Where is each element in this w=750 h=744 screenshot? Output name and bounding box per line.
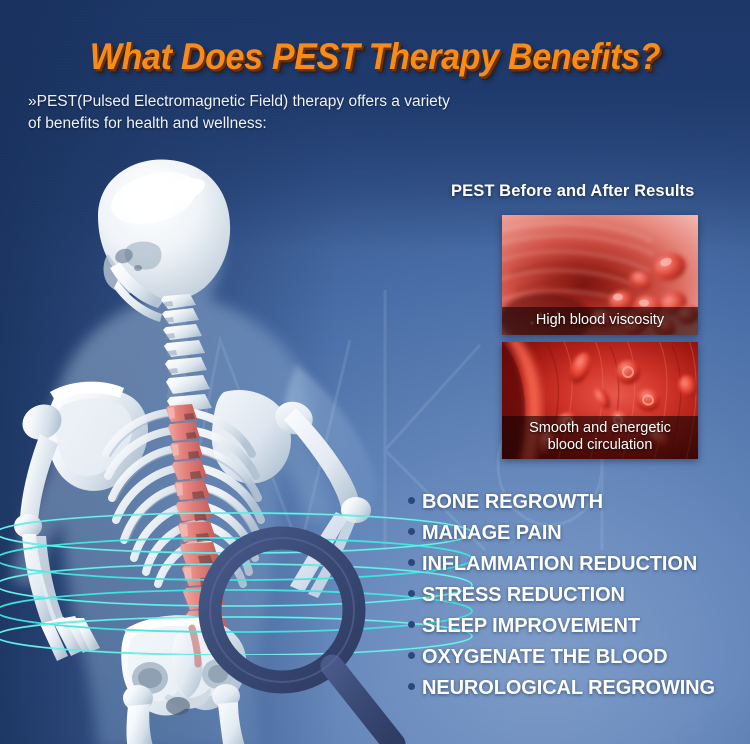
- benefit-label: BONE REGROWTH: [422, 492, 603, 512]
- bullet-icon: [408, 621, 415, 628]
- skeleton-illustration: [0, 150, 408, 744]
- benefit-item-oxygenate-the-blood: OXYGENATE THE BLOOD: [408, 647, 750, 667]
- subtitle-line-1: »PEST(Pulsed Electromagnetic Field) ther…: [28, 91, 750, 113]
- subtitle-line-2: of benefits for health and wellness:: [28, 113, 750, 135]
- header: What Does PEST Therapy Benefits? »PEST(P…: [0, 0, 750, 135]
- benefit-label: MANAGE PAIN: [422, 523, 562, 543]
- bullet-icon: [408, 590, 415, 597]
- benefit-item-neurological-regrowing: NEUROLOGICAL REGROWING: [408, 678, 750, 698]
- bullet-icon: [408, 559, 415, 566]
- benefit-item-sleep-improvement: SLEEP IMPROVEMENT: [408, 616, 750, 636]
- bullet-icon: [408, 497, 415, 504]
- page-subtitle: »PEST(Pulsed Electromagnetic Field) ther…: [0, 91, 750, 135]
- benefit-label: OXYGENATE THE BLOOD: [422, 647, 668, 667]
- results-heading: PEST Before and After Results: [451, 182, 721, 201]
- after-caption-line-1: Smooth and energetic: [506, 420, 694, 437]
- benefit-label: NEUROLOGICAL REGROWING: [422, 678, 715, 698]
- benefit-label: STRESS REDUCTION: [422, 585, 625, 605]
- before-photo: High blood viscosity: [502, 215, 698, 335]
- benefit-label: SLEEP IMPROVEMENT: [422, 616, 640, 636]
- benefit-label: INFLAMMATION REDUCTION: [422, 554, 697, 574]
- benefit-item-inflammation-reduction: INFLAMMATION REDUCTION: [408, 554, 750, 574]
- benefit-item-bone-regrowth: BONE REGROWTH: [408, 492, 750, 512]
- after-photo-caption: Smooth and energetic blood circulation: [502, 416, 698, 459]
- bullet-icon: [408, 652, 415, 659]
- after-caption-line-2: blood circulation: [506, 437, 694, 454]
- page-title: What Does PEST Therapy Benefits?: [0, 0, 750, 79]
- bullet-icon: [408, 683, 415, 690]
- benefits-list: BONE REGROWTH MANAGE PAIN INFLAMMATION R…: [408, 492, 750, 709]
- benefit-item-stress-reduction: STRESS REDUCTION: [408, 585, 750, 605]
- bullet-icon: [408, 528, 415, 535]
- after-photo: Smooth and energetic blood circulation: [502, 342, 698, 459]
- benefit-item-manage-pain: MANAGE PAIN: [408, 523, 750, 543]
- before-photo-caption: High blood viscosity: [502, 307, 698, 335]
- poster-canvas: What Does PEST Therapy Benefits? »PEST(P…: [0, 0, 750, 744]
